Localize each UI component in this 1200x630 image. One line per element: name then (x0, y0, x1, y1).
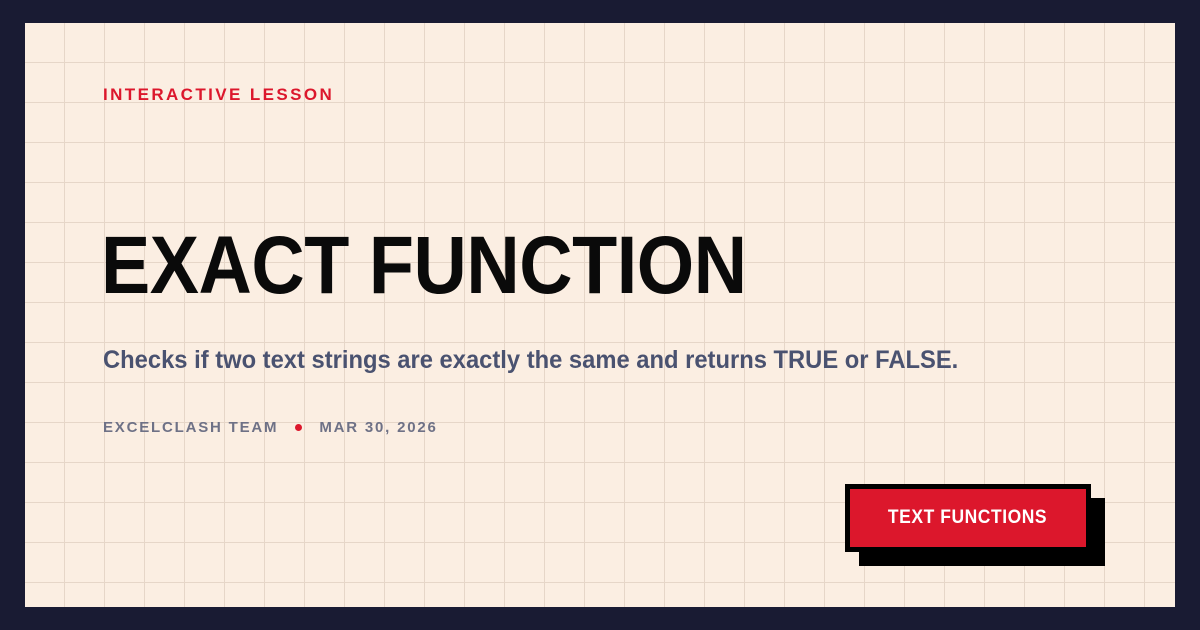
page-subtitle: Checks if two text strings are exactly t… (103, 343, 958, 377)
lesson-card: INTERACTIVE LESSON EXACT FUNCTION Checks… (25, 23, 1175, 607)
category-badge-label: TEXT FUNCTIONS (888, 507, 1047, 529)
eyebrow-label: INTERACTIVE LESSON (103, 85, 334, 105)
category-badge-button[interactable]: TEXT FUNCTIONS (845, 484, 1091, 552)
byline: EXCELCLASH TEAM MAR 30, 2026 (103, 419, 438, 436)
byline-author: EXCELCLASH TEAM (103, 419, 278, 436)
category-badge-wrapper: TEXT FUNCTIONS (845, 484, 1091, 552)
outer-frame: INTERACTIVE LESSON EXACT FUNCTION Checks… (0, 0, 1200, 630)
page-title: EXACT FUNCTION (101, 223, 747, 309)
byline-date: MAR 30, 2026 (319, 419, 437, 436)
dot-separator-icon (295, 424, 302, 431)
